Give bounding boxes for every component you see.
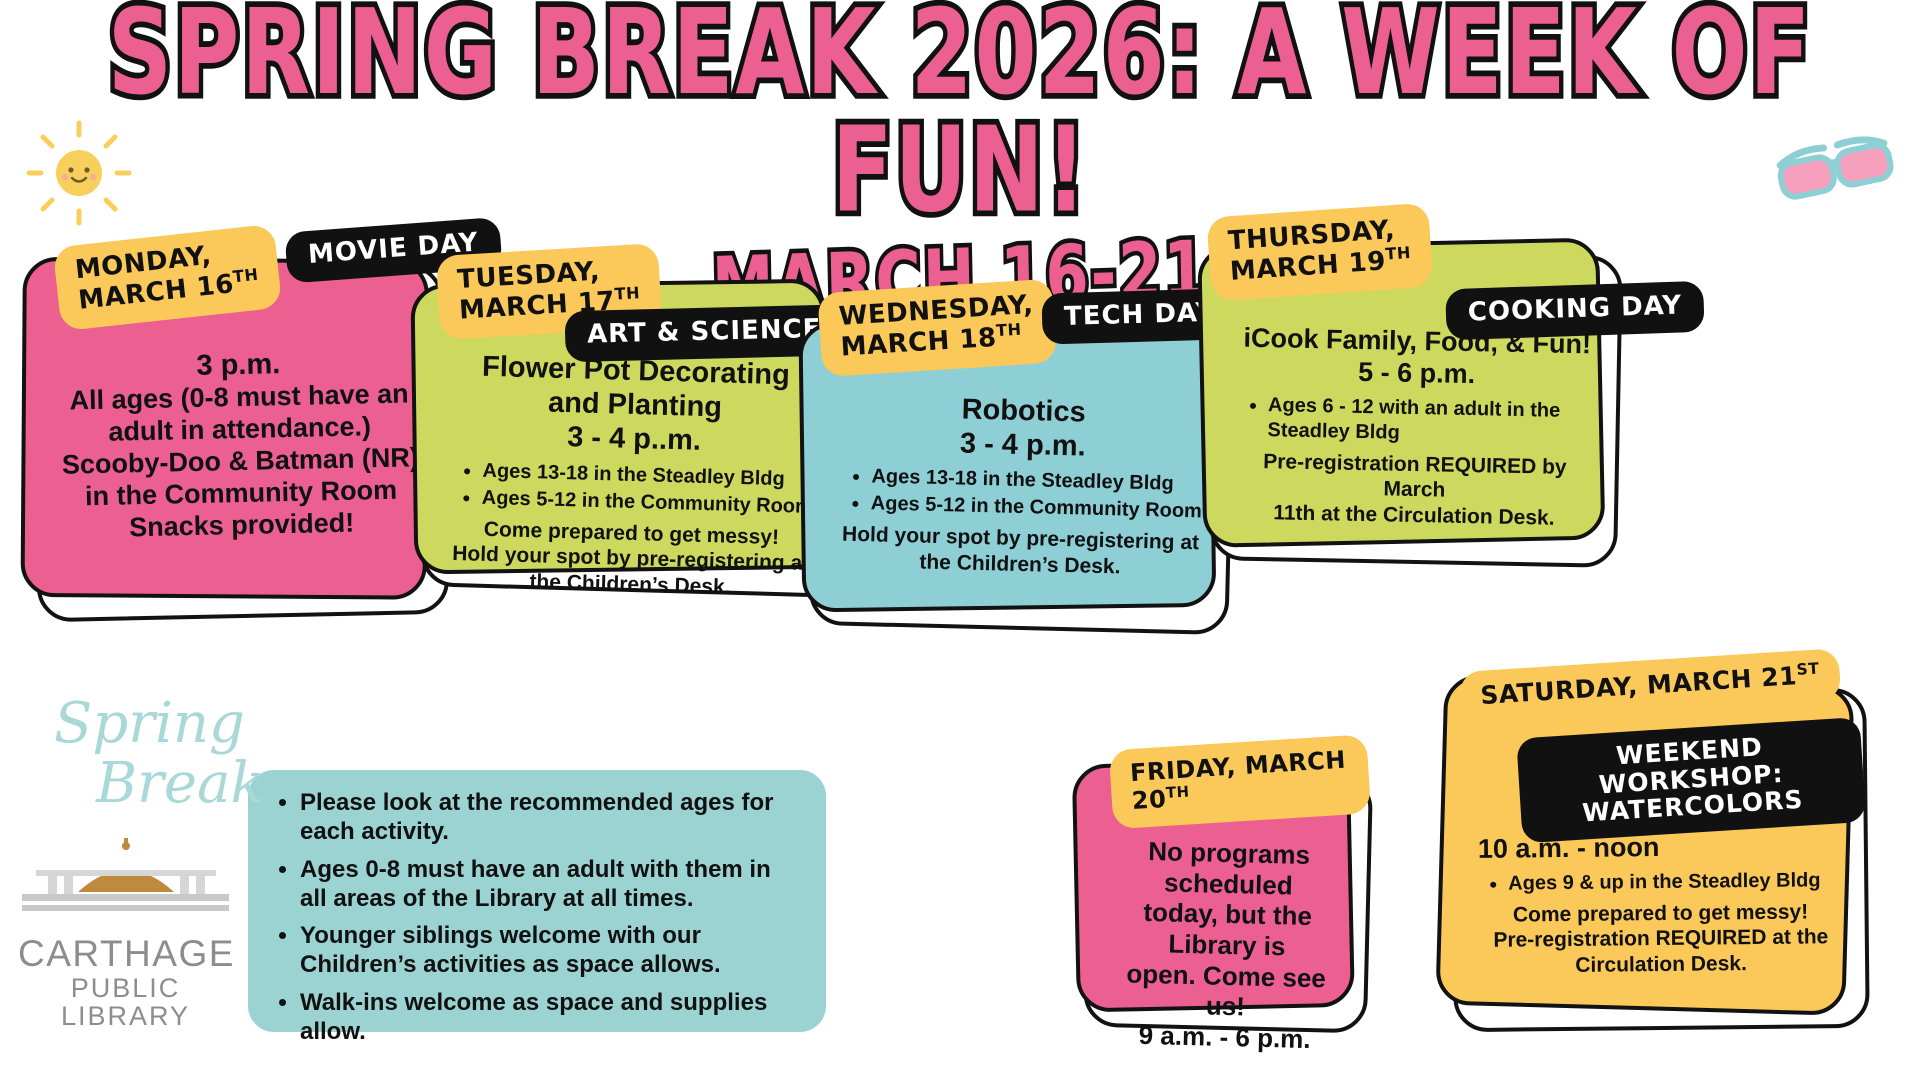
headline-wednesday: Robotics3 - 4 p.m. xyxy=(838,390,1208,467)
day-badge-saturday: WEEKEND WORKSHOP:WATERCOLORS xyxy=(1516,717,1866,843)
footer-wednesday: Hold your spot by pre-registering atthe … xyxy=(836,522,1205,582)
sun-icon xyxy=(24,118,134,228)
card-friday[interactable]: FRIDAY, MARCH 20TH No programs scheduled… xyxy=(1083,769,1373,1034)
card-monday[interactable]: MONDAY,MARCH 16TH MOVIE DAY 3 p.m. All a… xyxy=(30,264,449,623)
poster-canvas: SPRING BREAK 2026: A WEEK OF FUN! MARCH … xyxy=(0,0,1920,1080)
library-logo: CARTHAGE PUBLIC LIBRARY xyxy=(18,830,233,1031)
list-item: Please look at the recommended ages for … xyxy=(300,788,800,847)
card-tuesday[interactable]: TUESDAY,MARCH 17TH ART & SCIENCE DAY Flo… xyxy=(420,286,848,598)
list-item: Ages 6 - 12 with an adult in the Steadle… xyxy=(1267,393,1594,449)
lines-friday: No programs scheduledtoday, but the Libr… xyxy=(1108,835,1345,1055)
footer-thursday: Pre-registration REQUIRED by March11th a… xyxy=(1236,448,1593,532)
footer-tuesday: Come prepared to get messy!Hold your spo… xyxy=(446,515,816,602)
lines-monday: All ages (0-8 must have anadult in atten… xyxy=(59,378,422,545)
list-item: Ages 9 & up in the Steadley Bldg xyxy=(1508,868,1821,896)
card-saturday[interactable]: SATURDAY, MARCH 21ST WEEKEND WORKSHOP:WA… xyxy=(1450,688,1870,1032)
spring-break-script: Spring Break xyxy=(48,680,268,820)
date-pill-friday: FRIDAY, MARCH 20TH xyxy=(1109,734,1371,829)
library-name: CARTHAGE xyxy=(18,935,233,974)
headline-thursday: iCook Family, Food, & Fun!5 - 6 p.m. xyxy=(1238,323,1595,394)
svg-text:Spring: Spring xyxy=(54,691,245,756)
bullets-wednesday: Ages 13-18 in the Steadley BldgAges 5-12… xyxy=(840,464,1202,527)
list-item: Ages 5-12 in the Community Room xyxy=(870,492,1202,525)
date-pill-thursday: THURSDAY,MARCH 19TH xyxy=(1206,203,1433,302)
library-building-icon xyxy=(18,830,233,926)
list-item: Walk-ins welcome as space and supplies a… xyxy=(300,988,800,1047)
sunglasses-icon xyxy=(1770,128,1900,208)
bullets-tuesday: Ages 13-18 in the Steadley BldgAges 5-12… xyxy=(451,458,814,522)
library-subtitle: PUBLIC LIBRARY xyxy=(18,974,233,1031)
svg-text:Break: Break xyxy=(95,751,264,816)
list-item: Ages 0-8 must have an adult with them in… xyxy=(300,855,800,914)
headline-tuesday: Flower Pot Decoratingand Planting3 - 4 p… xyxy=(450,349,821,462)
card-thursday[interactable]: THURSDAY,MARCH 19TH COOKING DAY iCook Fa… xyxy=(1209,248,1623,568)
footer-saturday: Come prepared to get messy!Pre-registrat… xyxy=(1478,899,1843,980)
bullets-thursday: Ages 6 - 12 with an adult in the Steadle… xyxy=(1237,392,1594,451)
page-title: SPRING BREAK 2026: A WEEK OF FUN! xyxy=(29,0,1891,230)
list-item: Younger siblings welcome with our Childr… xyxy=(300,921,800,980)
bullets-saturday: Ages 9 & up in the Steadley Bldg xyxy=(1478,868,1821,899)
headline-saturday: 10 a.m. - noon xyxy=(1478,830,1842,866)
general-notes-list: Please look at the recommended ages for … xyxy=(274,788,800,1046)
date-pill-wednesday: WEDNESDAY,MARCH 18TH xyxy=(817,279,1057,377)
card-wednesday[interactable]: WEDNESDAY,MARCH 18TH TECH DAY Robotics3 … xyxy=(808,325,1235,635)
general-notes-box: Please look at the recommended ages for … xyxy=(248,770,826,1032)
